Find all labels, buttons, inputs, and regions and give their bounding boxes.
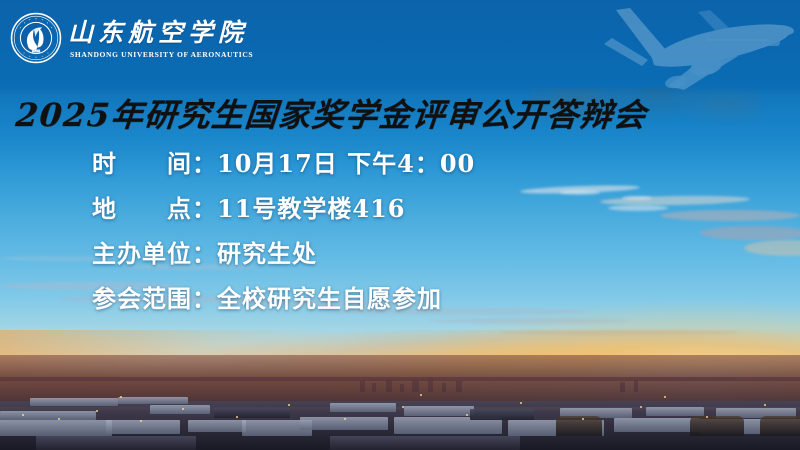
university-name-cn: 山东航空学院 — [68, 20, 250, 45]
airplane-icon — [556, 0, 800, 98]
poster-canvas: 山东航空学院 SHANDONG UNIVERSITY OF AERONAUTIC… — [0, 0, 800, 450]
page-title: 2025年研究生国家奖学金评审公开答辩会 — [0, 90, 649, 136]
detail-row-time: 时 间：10月17日 下午4：00 — [92, 152, 475, 176]
cloud-wisp — [660, 210, 800, 221]
cloud-wisp — [700, 226, 800, 240]
university-logo: 山东航空学院 SHANDONG UNIVERSITY OF AERONAUTIC… — [10, 12, 250, 64]
event-details: 时 间：10月17日 下午4：00 地 点：11号教学楼416 主办单位：研究生… — [92, 152, 475, 311]
cloud-wisp — [430, 318, 630, 324]
cloud-wisp — [608, 205, 668, 211]
cityscape — [0, 355, 800, 450]
detail-row-organizer: 主办单位：研究生处 — [92, 242, 475, 266]
detail-row-location: 地 点：11号教学楼416 — [92, 197, 475, 221]
university-name-en: SHANDONG UNIVERSITY OF AERONAUTICS — [70, 51, 253, 58]
title-banner: 2025年研究生国家奖学金评审公开答辩会 — [0, 88, 800, 138]
detail-row-audience: 参会范围：全校研究生自愿参加 — [92, 287, 475, 311]
cloud-wisp — [500, 330, 740, 335]
university-crest-icon — [10, 12, 62, 64]
